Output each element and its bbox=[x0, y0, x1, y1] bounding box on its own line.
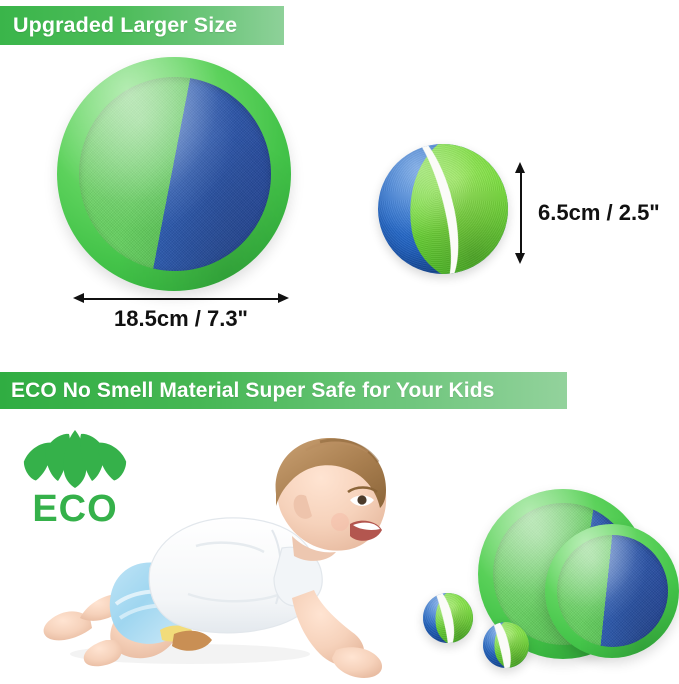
ball-diameter-label: 6.5cm / 2.5" bbox=[538, 200, 660, 226]
paddle-diameter-arrow bbox=[73, 296, 289, 301]
toss-ball-small-1 bbox=[423, 593, 473, 643]
ball-gloss bbox=[483, 622, 529, 668]
banner-1-label: Upgraded Larger Size bbox=[13, 13, 237, 38]
ball-diameter-arrow bbox=[518, 162, 523, 264]
toss-ball-small-2 bbox=[483, 622, 529, 668]
banner-eco-no-smell: ECO No Smell Material Super Safe for You… bbox=[0, 372, 567, 409]
toss-ball-large bbox=[378, 144, 508, 274]
paddle-face-front bbox=[557, 535, 668, 648]
crawling-baby-photo bbox=[20, 418, 420, 684]
arrow-line bbox=[520, 169, 522, 257]
paddle-diameter-label: 18.5cm / 7.3" bbox=[73, 306, 289, 332]
arrow-head-bottom-icon bbox=[515, 253, 525, 264]
banner-upgraded-larger-size: Upgraded Larger Size bbox=[0, 6, 284, 45]
catch-paddle-large bbox=[57, 57, 291, 291]
catch-paddle-front bbox=[545, 524, 679, 658]
paddle-face-large bbox=[79, 77, 271, 271]
ball-gloss bbox=[378, 144, 508, 274]
banner-2-label: ECO No Smell Material Super Safe for You… bbox=[11, 379, 494, 403]
ball-gloss bbox=[423, 593, 473, 643]
arrow-head-right-icon bbox=[278, 293, 289, 303]
infographic-canvas: Upgraded Larger Size 18.5cm / 7.3" 6.5cm… bbox=[0, 0, 679, 684]
arrow-line bbox=[80, 298, 282, 300]
